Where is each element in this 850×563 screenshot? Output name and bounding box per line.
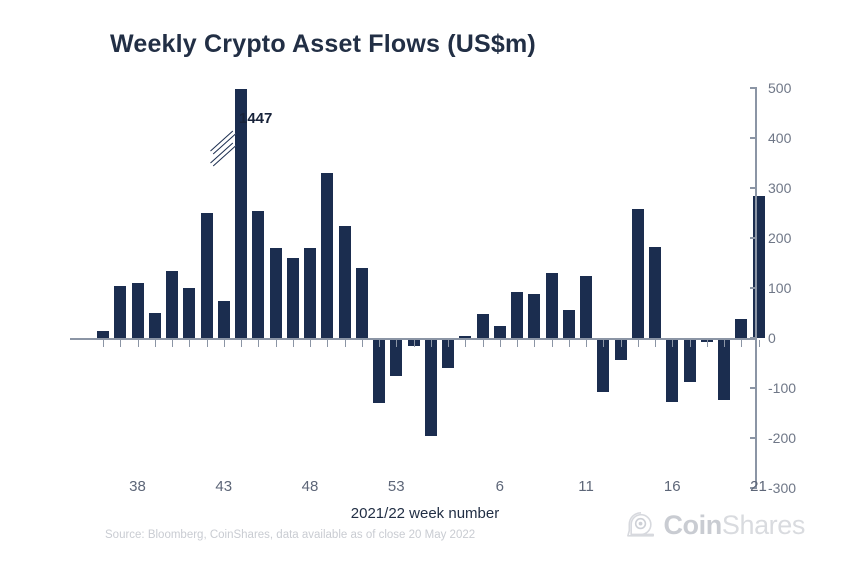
bar-week-9 (546, 273, 558, 338)
x-axis-label-53: 53 (388, 478, 405, 495)
bar-series (70, 88, 755, 488)
x-axis-label-6: 6 (496, 478, 504, 495)
y-axis-tick (750, 87, 757, 89)
x-axis-tick (707, 340, 708, 347)
axis-break-icon (206, 128, 242, 166)
y-axis-label: 500 (768, 80, 791, 96)
x-axis-tick (155, 340, 156, 347)
x-axis-label-38: 38 (129, 478, 146, 495)
x-axis-tick (448, 340, 449, 347)
bar-week-46 (270, 248, 282, 338)
x-axis-tick (258, 340, 259, 347)
coinshares-logo: CoinShares (626, 510, 805, 540)
x-axis-label-48: 48 (302, 478, 319, 495)
x-axis-tick (741, 340, 742, 347)
y-axis-tick (750, 437, 757, 439)
bar-week-8 (528, 294, 540, 338)
x-axis-tick (690, 340, 691, 347)
x-axis-tick (224, 340, 225, 347)
x-axis-tick (431, 340, 432, 347)
bar-week-19 (718, 338, 730, 400)
x-axis-tick (552, 340, 553, 347)
bar-week-20 (735, 319, 747, 338)
x-axis-tick (586, 340, 587, 347)
x-axis-tick (569, 340, 570, 347)
bar-week-51 (356, 268, 368, 338)
bar-week-2 (425, 338, 437, 436)
x-axis-tick (396, 340, 397, 347)
y-axis-tick (750, 187, 757, 189)
bar-week-48 (304, 248, 316, 338)
x-axis-tick (241, 340, 242, 347)
annotation-1447: 1447 (239, 110, 272, 127)
bar-week-11 (580, 276, 592, 339)
y-axis-tick (750, 237, 757, 239)
logo-word-shares: Shares (722, 510, 805, 540)
bar-week-7 (511, 292, 523, 338)
x-axis-tick (189, 340, 190, 347)
bar-week-6 (494, 326, 506, 339)
x-axis-tick (276, 340, 277, 347)
bar-week-15 (649, 247, 661, 339)
bar-week-43 (218, 301, 230, 339)
source-note: Source: Bloomberg, CoinShares, data avai… (105, 529, 475, 541)
x-axis-label-16: 16 (664, 478, 681, 495)
x-axis-tick (379, 340, 380, 347)
bar-week-41 (183, 288, 195, 338)
y-axis-tick (750, 387, 757, 389)
x-axis-tick (103, 340, 104, 347)
x-axis-label-43: 43 (215, 478, 232, 495)
plot-area (70, 88, 755, 488)
y-axis-tick (750, 287, 757, 289)
y-axis-label: 200 (768, 230, 791, 246)
y-axis-label: 400 (768, 130, 791, 146)
x-axis-tick (724, 340, 725, 347)
x-axis-tick (120, 340, 121, 347)
chart-title: Weekly Crypto Asset Flows (US$m) (110, 30, 536, 59)
bar-week-36 (97, 331, 109, 339)
bar-week-45 (252, 211, 264, 339)
bar-week-52 (373, 338, 385, 403)
x-axis-tick (672, 340, 673, 347)
bar-week-38 (132, 283, 144, 338)
x-axis-tick (500, 340, 501, 347)
x-axis-tick (655, 340, 656, 347)
x-axis-tick (172, 340, 173, 347)
x-axis-tick (207, 340, 208, 347)
bar-week-14 (632, 209, 644, 338)
x-axis-tick (362, 340, 363, 347)
x-axis-tick (138, 340, 139, 347)
x-axis-tick (603, 340, 604, 347)
x-axis-tick (759, 340, 760, 347)
y-axis-tick (750, 137, 757, 139)
y-axis-tick (750, 337, 757, 339)
logo-wordmark: CoinShares (663, 512, 805, 539)
x-axis-tick (327, 340, 328, 347)
bar-week-40 (166, 271, 178, 339)
chart-root: Weekly Crypto Asset Flows (US$m) 5004003… (0, 0, 850, 563)
x-axis-tick (534, 340, 535, 347)
bar-week-39 (149, 313, 161, 338)
x-axis-tick (293, 340, 294, 347)
y-axis-label: -100 (768, 380, 796, 396)
y-axis-label: -300 (768, 480, 796, 496)
x-axis-tick (414, 340, 415, 347)
x-axis-tick (638, 340, 639, 347)
bar-week-16 (666, 338, 678, 402)
x-axis-tick (345, 340, 346, 347)
y-axis-label: 300 (768, 180, 791, 196)
bar-week-10 (563, 310, 575, 339)
y-axis-label: 0 (768, 330, 776, 346)
y-axis-label: -200 (768, 430, 796, 446)
bar-week-37 (114, 286, 126, 339)
x-axis-tick (465, 340, 466, 347)
bar-week-49 (321, 173, 333, 338)
x-axis-tick (483, 340, 484, 347)
bar-week-50 (339, 226, 351, 339)
bar-week-47 (287, 258, 299, 338)
x-axis-tick (310, 340, 311, 347)
x-axis-label-11: 11 (578, 478, 594, 495)
x-axis-tick (517, 340, 518, 347)
coinshares-monogram-icon (626, 510, 656, 540)
logo-word-coin: Coin (663, 510, 721, 540)
y-axis-label: 100 (768, 280, 791, 296)
x-axis-tick (621, 340, 622, 347)
bar-week-42 (201, 213, 213, 338)
bar-week-5 (477, 314, 489, 338)
x-axis-label-21: 21 (750, 478, 767, 495)
